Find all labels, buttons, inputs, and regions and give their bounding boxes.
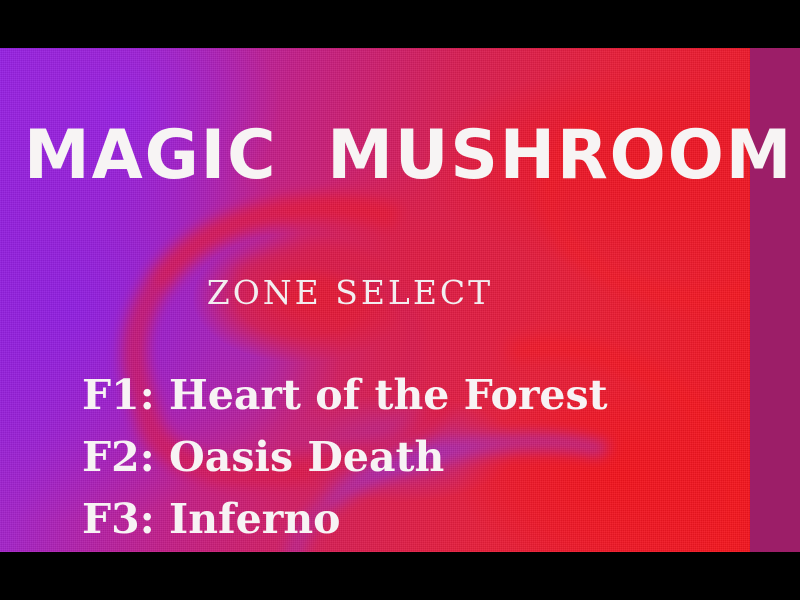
game-title: MAGIC MUSHROOM — [24, 124, 722, 188]
game-window: MAGIC MUSHROOM ZONE SELECT F1: Heart of … — [0, 0, 800, 600]
zone-select-heading: ZONE SELECT — [0, 276, 700, 310]
screen-content: MAGIC MUSHROOM ZONE SELECT F1: Heart of … — [0, 48, 800, 552]
game-viewport: MAGIC MUSHROOM ZONE SELECT F1: Heart of … — [0, 48, 800, 552]
zone-menu-item-f1[interactable]: F1: Heart of the Forest — [82, 364, 608, 426]
zone-menu-item-f3[interactable]: F3: Inferno — [82, 488, 608, 550]
letterbox-top — [0, 0, 800, 48]
zone-menu-item-f2[interactable]: F2: Oasis Death — [82, 426, 608, 488]
zone-menu: F1: Heart of the Forest F2: Oasis Death … — [82, 364, 608, 550]
letterbox-bottom — [0, 552, 800, 600]
